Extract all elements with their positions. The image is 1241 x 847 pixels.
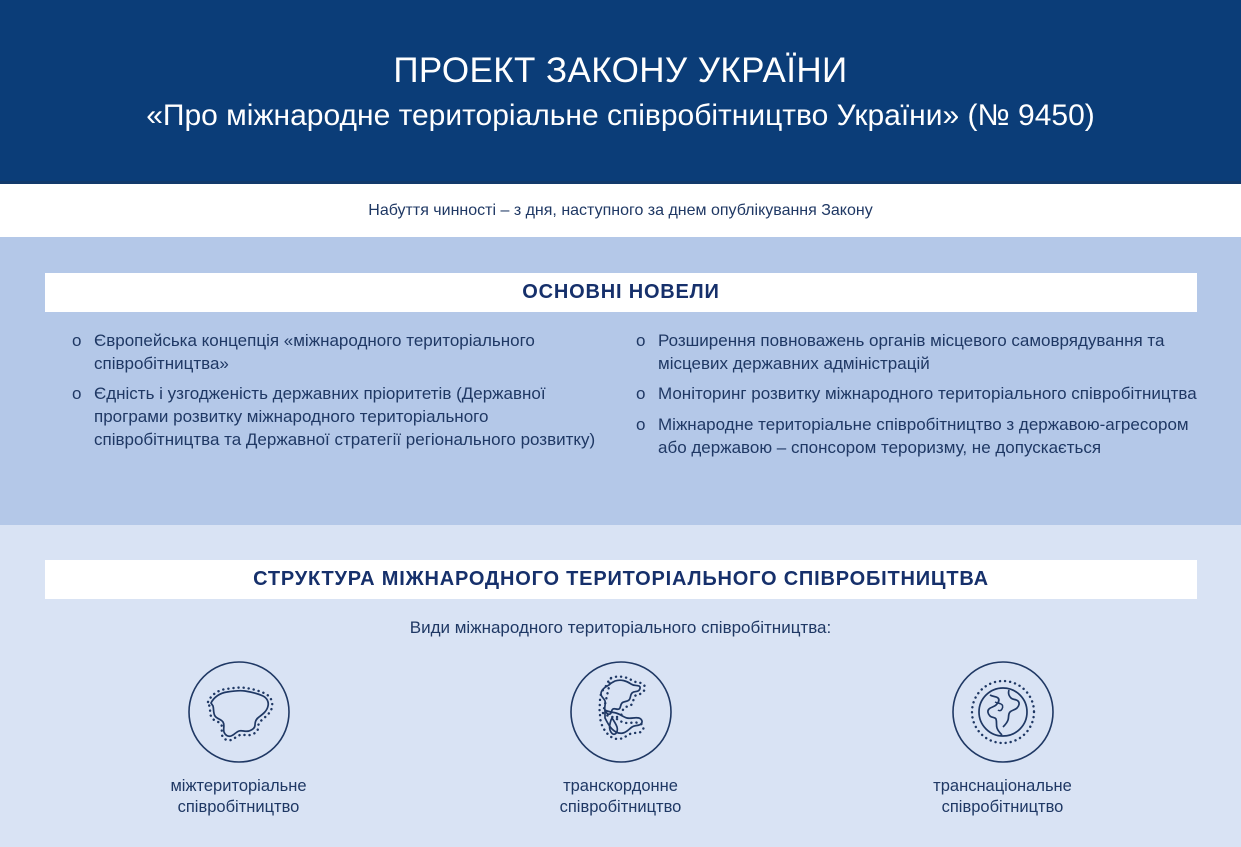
globe-icon [951,660,1055,764]
list-item-label: Єдність і узгодженість державних пріорит… [94,382,602,451]
novelties-header-bar: ОСНОВНІ НОВЕЛИ [45,273,1197,312]
list-item: o Європейська концепція «міжнародного те… [72,329,602,375]
list-item-label: Моніторинг розвитку міжнародного територ… [658,382,1197,405]
bullet-circle-icon: o [636,413,658,437]
novelties-left-column: o Європейська концепція «міжнародного те… [72,329,614,466]
structure-subtitle: Види міжнародного територіального співро… [0,618,1241,638]
cooperation-type-label: міжтериторіальне співробітництво [170,776,306,818]
novelties-section: ОСНОВНІ НОВЕЛИ o Європейська концепція «… [0,237,1241,526]
list-item-label: Розширення повноважень органів місцевого… [658,329,1206,375]
effective-date-band: Набуття чинності – з дня, наступного за … [0,184,1241,237]
cooperation-type-label: транскордонне співробітництво [560,776,682,818]
structure-section: СТРУКТУРА МІЖНАРОДНОГО ТЕРИТОРІАЛЬНОГО С… [0,525,1241,847]
novelties-right-column: o Розширення повноважень органів місцево… [614,329,1206,466]
novelties-columns: o Європейська концепція «міжнародного те… [0,329,1241,466]
cooperation-types-row: міжтериторіальне співробітництво транско… [0,660,1241,818]
structure-section-title: СТРУКТУРА МІЖНАРОДНОГО ТЕРИТОРІАЛЬНОГО С… [253,568,989,591]
header-band: ПРОЕКТ ЗАКОНУ УКРАЇНИ «Про міжнародне те… [0,0,1241,181]
page-subtitle: «Про міжнародне територіальне співробітн… [146,98,1095,134]
bullet-circle-icon: o [636,329,658,353]
cooperation-type-interterritorial: міжтериторіальне співробітництво [139,660,339,818]
list-item: o Розширення повноважень органів місцево… [636,329,1206,375]
europe-map-icon [569,660,673,764]
bullet-circle-icon: o [72,329,94,353]
structure-header-bar: СТРУКТУРА МІЖНАРОДНОГО ТЕРИТОРІАЛЬНОГО С… [45,560,1197,599]
list-item: o Міжнародне територіальне співробітницт… [636,413,1206,459]
effective-date-text: Набуття чинності – з дня, наступного за … [368,202,872,220]
page-title: ПРОЕКТ ЗАКОНУ УКРАЇНИ [393,51,847,91]
ukraine-map-icon [187,660,291,764]
list-item: o Єдність і узгодженість державних пріор… [72,382,602,451]
cooperation-type-transnational: транснаціональне співробітництво [903,660,1103,818]
list-item-label: Європейська концепція «міжнародного тери… [94,329,602,375]
cooperation-type-label: транснаціональне співробітництво [933,776,1072,818]
novelties-section-title: ОСНОВНІ НОВЕЛИ [522,281,719,304]
bullet-circle-icon: o [636,382,658,406]
cooperation-type-crossborder: транскордонне співробітництво [521,660,721,818]
bullet-circle-icon: o [72,382,94,406]
list-item-label: Міжнародне територіальне співробітництво… [658,413,1206,459]
list-item: o Моніторинг розвитку міжнародного терит… [636,382,1206,406]
